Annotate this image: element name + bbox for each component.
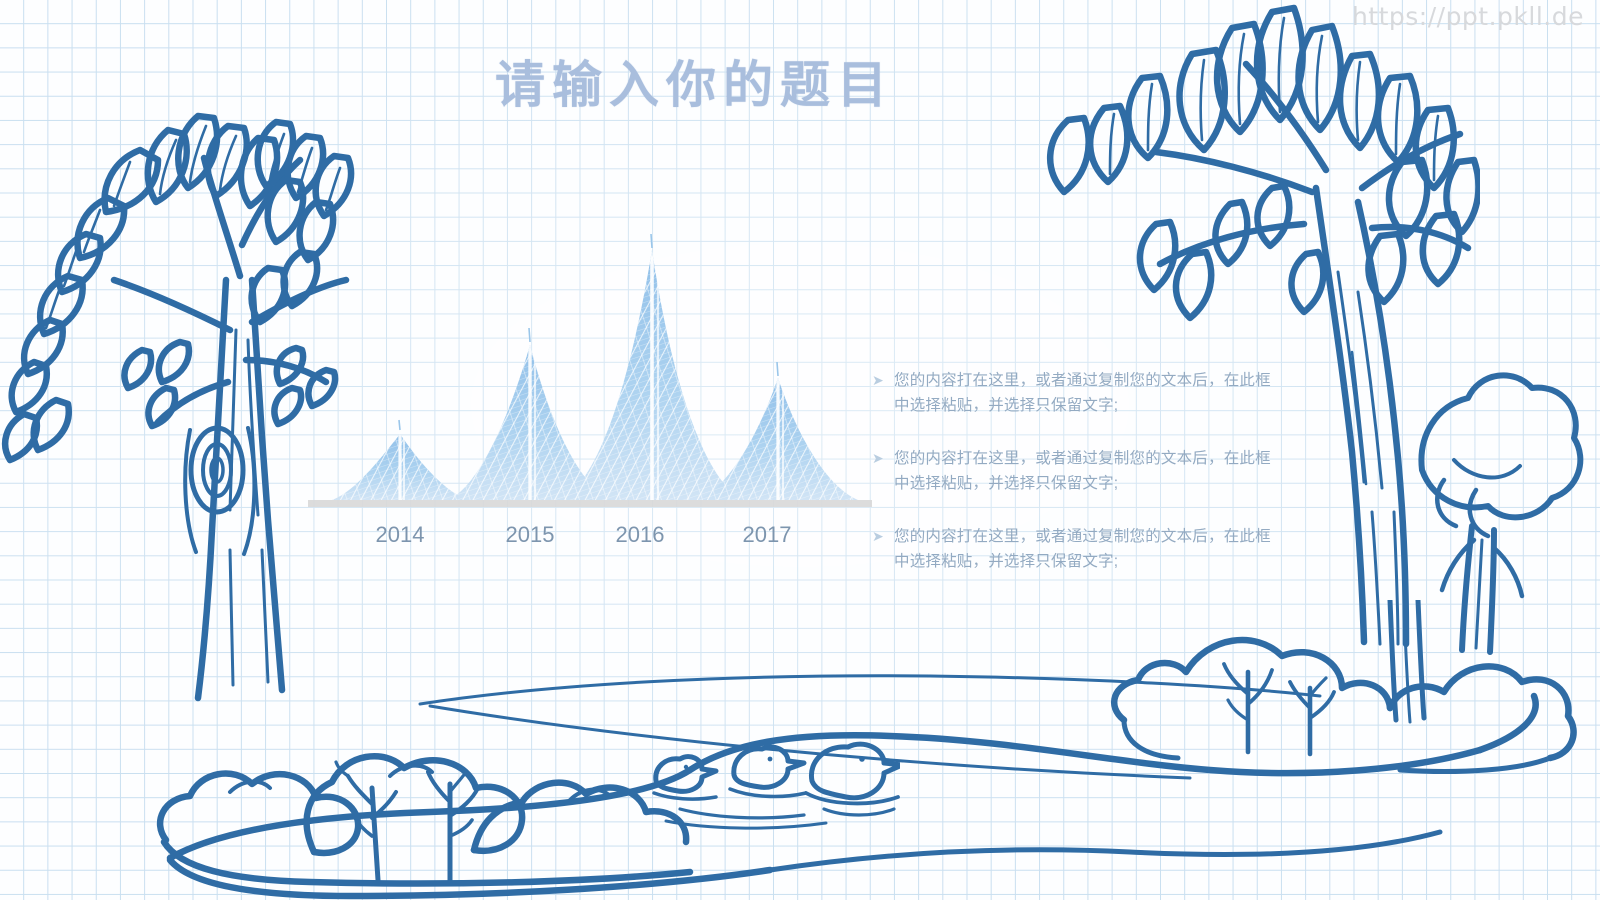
chart-x-axis: 2014 2015 2016 2017 bbox=[300, 522, 880, 562]
arrow-bullet-icon: ➤ bbox=[872, 446, 894, 467]
bullet-text: 您的内容打在这里，或者通过复制您的文本后，在此框中选择粘贴，并选择只保留文字; bbox=[894, 446, 1284, 496]
bullet-item[interactable]: ➤ 您的内容打在这里，或者通过复制您的文本后，在此框中选择粘贴，并选择只保留文字… bbox=[872, 446, 1284, 496]
chart-peak-2017 bbox=[690, 360, 870, 510]
chart-peak-2014 bbox=[320, 410, 480, 510]
chart-baseline bbox=[308, 500, 872, 507]
arrow-bullet-icon: ➤ bbox=[872, 524, 894, 545]
bullet-item[interactable]: ➤ 您的内容打在这里，或者通过复制您的文本后，在此框中选择粘贴，并选择只保留文字… bbox=[872, 368, 1284, 418]
sketch-area-chart: 2014 2015 2016 2017 bbox=[300, 230, 880, 580]
page-title: 请输入你的题目 bbox=[495, 55, 915, 115]
axis-label-2017: 2017 bbox=[722, 522, 812, 548]
arrow-bullet-icon: ➤ bbox=[872, 368, 894, 389]
bullet-text: 您的内容打在这里，或者通过复制您的文本后，在此框中选择粘贴，并选择只保留文字; bbox=[894, 524, 1284, 574]
axis-label-2014: 2014 bbox=[355, 522, 445, 548]
axis-label-2015: 2015 bbox=[485, 522, 575, 548]
page-title-container: 请输入你的题目 bbox=[495, 55, 915, 117]
bullet-item[interactable]: ➤ 您的内容打在这里，或者通过复制您的文本后，在此框中选择粘贴，并选择只保留文字… bbox=[872, 524, 1284, 574]
bullet-list: ➤ 您的内容打在这里，或者通过复制您的文本后，在此框中选择粘贴，并选择只保留文字… bbox=[872, 368, 1284, 602]
slide-canvas: https://ppt.pkll.de 请输入你的题目 bbox=[0, 0, 1600, 900]
bullet-text: 您的内容打在这里，或者通过复制您的文本后，在此框中选择粘贴，并选择只保留文字; bbox=[894, 368, 1284, 418]
chart-plot bbox=[300, 230, 880, 530]
chart-peak-2016 bbox=[550, 234, 755, 510]
axis-label-2016: 2016 bbox=[595, 522, 685, 548]
watermark-url: https://ppt.pkll.de bbox=[1352, 2, 1584, 31]
